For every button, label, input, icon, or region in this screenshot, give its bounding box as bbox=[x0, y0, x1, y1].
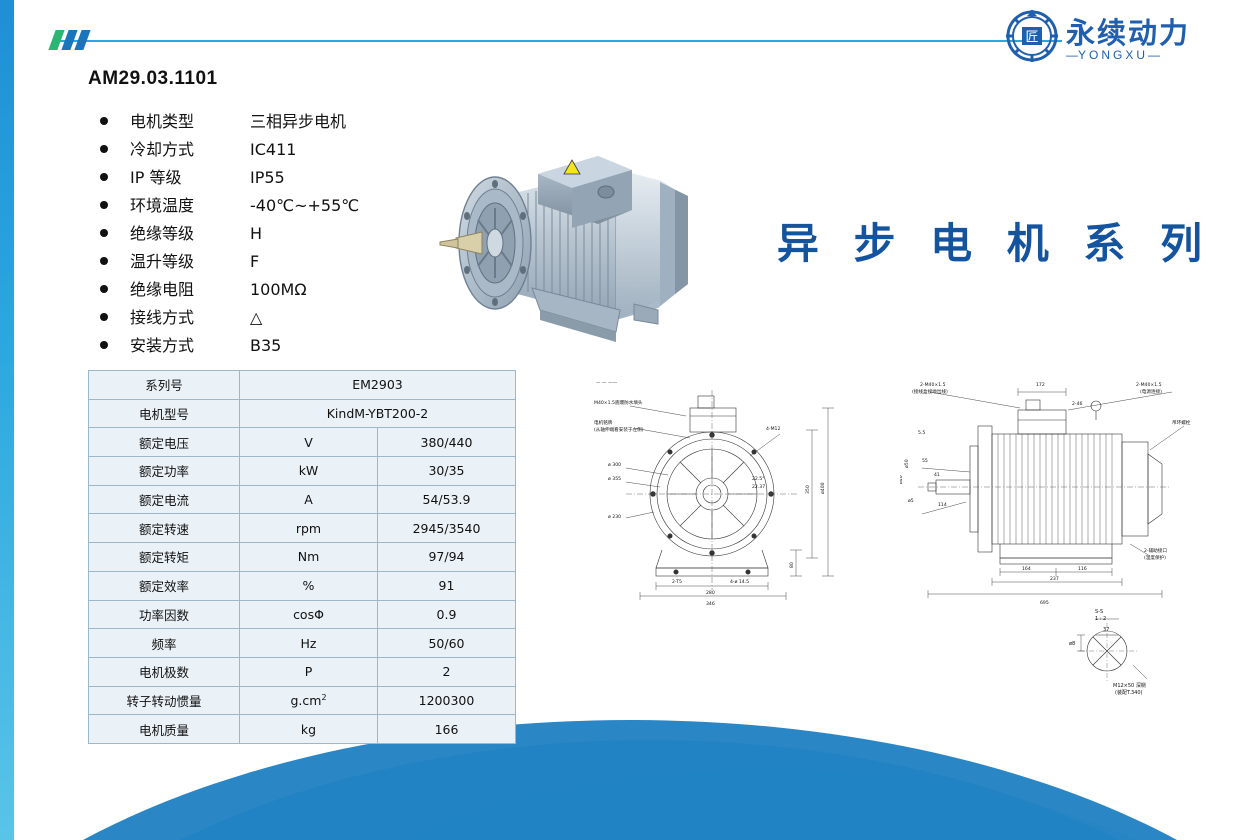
svg-text:ø5: ø5 bbox=[908, 498, 914, 504]
bullet-icon bbox=[100, 341, 108, 349]
svg-text:4-ø 14.5: 4-ø 14.5 bbox=[730, 579, 749, 585]
svg-text:695: 695 bbox=[1040, 600, 1049, 606]
spec-list: 电机类型 三相异步电机 冷却方式 IC411 IP 等级 IP55 环境温度 -… bbox=[100, 108, 440, 360]
bullet-icon bbox=[100, 201, 108, 209]
spec-value: B35 bbox=[250, 336, 281, 355]
svg-text:22.37: 22.37 bbox=[752, 484, 765, 490]
table-cell-value: 166 bbox=[378, 715, 516, 744]
table-row: 系列号 EM2903 bbox=[89, 371, 516, 400]
table-cell-value: 54/53.9 bbox=[378, 485, 516, 514]
svg-text:172: 172 bbox=[1036, 382, 1045, 388]
table-cell-name: 额定功率 bbox=[89, 457, 240, 486]
bullet-icon bbox=[100, 313, 108, 321]
svg-text:5.5: 5.5 bbox=[918, 430, 925, 436]
bullet-icon bbox=[100, 117, 108, 125]
table-cell-name: 电机极数 bbox=[89, 657, 240, 686]
svg-text:2-M40×1.5: 2-M40×1.5 bbox=[920, 382, 946, 388]
svg-text:ø50: ø50 bbox=[904, 459, 910, 468]
spec-label: 接线方式 bbox=[130, 304, 250, 328]
side-view-drawing: 2-M40×1.5 (接线盒接地出线) 2-M40×1.5 (电源连接) 172… bbox=[900, 372, 1200, 612]
spec-label: 绝缘电阻 bbox=[130, 276, 250, 300]
table-row: 额定转速 rpm 2945/3540 bbox=[89, 514, 516, 543]
spec-label: IP 等级 bbox=[130, 164, 250, 188]
table-row: 额定效率 % 91 bbox=[89, 571, 516, 600]
table-cell-name: 功率因数 bbox=[89, 600, 240, 629]
svg-text:55: 55 bbox=[922, 458, 928, 464]
list-item: 冷却方式 IC411 bbox=[100, 136, 440, 164]
table-cell-value: KindM-YBT200-2 bbox=[240, 399, 516, 428]
svg-text:ø 355: ø 355 bbox=[608, 476, 621, 482]
spec-value: H bbox=[250, 224, 262, 243]
table-cell-value: EM2903 bbox=[240, 371, 516, 400]
list-item: 绝缘电阻 100MΩ bbox=[100, 276, 440, 304]
svg-text:吊环螺栓: 吊环螺栓 bbox=[1172, 419, 1191, 426]
table-cell-name: 频率 bbox=[89, 629, 240, 658]
series-title: 异 步 电 机 系 列 bbox=[777, 210, 1212, 271]
svg-text:116: 116 bbox=[1078, 566, 1087, 572]
parameter-table: 系列号 EM2903 电机型号 KindM-YBT200-2 额定电压 V 38… bbox=[88, 370, 516, 744]
svg-text:电机铭牌: 电机铭牌 bbox=[594, 419, 613, 426]
svg-text:80: 80 bbox=[789, 562, 795, 568]
table-cell-name: 转子转动惯量 bbox=[89, 686, 240, 715]
table-cell-name: 电机质量 bbox=[89, 715, 240, 744]
front-view-drawing: — — —— M40×1.5底爆防水填头 电机铭牌 (从轴伸端看安装于左侧) 4… bbox=[590, 372, 870, 612]
svg-text:匠: 匠 bbox=[1025, 30, 1038, 45]
svg-text:37: 37 bbox=[1103, 627, 1109, 633]
gear-logo-icon: 匠 bbox=[1004, 8, 1060, 64]
table-row: 电机质量 kg 166 bbox=[89, 715, 516, 744]
table-cell-unit: P bbox=[240, 657, 378, 686]
left-accent-bar bbox=[0, 0, 14, 840]
table-cell-unit: cosΦ bbox=[240, 600, 378, 629]
svg-text:2-46: 2-46 bbox=[1072, 401, 1083, 407]
svg-text:ø400: ø400 bbox=[820, 482, 826, 494]
spec-label: 温升等级 bbox=[130, 248, 250, 272]
svg-text:41: 41 bbox=[934, 472, 940, 478]
list-item: 电机类型 三相异步电机 bbox=[100, 108, 440, 136]
spec-label: 电机类型 bbox=[130, 108, 250, 132]
spec-value: 三相异步电机 bbox=[250, 108, 346, 132]
table-cell-value: 91 bbox=[378, 571, 516, 600]
svg-text:S-S: S-S bbox=[1095, 609, 1103, 615]
table-cell-value: 30/35 bbox=[378, 457, 516, 486]
table-cell-name: 额定转速 bbox=[89, 514, 240, 543]
svg-text:22.5°: 22.5° bbox=[752, 476, 765, 482]
table-cell-unit: Hz bbox=[240, 629, 378, 658]
table-row: 频率 Hz 50/60 bbox=[89, 629, 516, 658]
section-s-s-drawing: S-S 1 : 2 37 ø8 M12×50 深铡 (装配T.340) bbox=[1055, 605, 1165, 705]
spec-label: 环境温度 bbox=[130, 192, 250, 216]
spec-value: IC411 bbox=[250, 140, 296, 159]
table-cell-value: 97/94 bbox=[378, 543, 516, 572]
svg-text:350: 350 bbox=[805, 485, 811, 494]
table-row: 额定电流 A 54/53.9 bbox=[89, 485, 516, 514]
list-item: 接线方式 △ bbox=[100, 304, 440, 332]
svg-text:ø8: ø8 bbox=[1069, 641, 1075, 647]
table-row: 额定电压 V 380/440 bbox=[89, 428, 516, 457]
table-row: 额定转矩 Nm 97/94 bbox=[89, 543, 516, 572]
table-cell-unit: kW bbox=[240, 457, 378, 486]
svg-text:ø 300: ø 300 bbox=[608, 462, 621, 468]
svg-text:2-T5: 2-T5 bbox=[672, 579, 682, 585]
table-cell-value: 0.9 bbox=[378, 600, 516, 629]
svg-text:M40×1.5底爆防水填头: M40×1.5底爆防水填头 bbox=[594, 399, 643, 406]
bullet-icon bbox=[100, 257, 108, 265]
svg-text:2-M40×1.5: 2-M40×1.5 bbox=[1136, 382, 1162, 388]
table-row: 额定功率 kW 30/35 bbox=[89, 457, 516, 486]
spec-value: F bbox=[250, 252, 259, 271]
table-cell-value: 380/440 bbox=[378, 428, 516, 457]
table-cell-unit: rpm bbox=[240, 514, 378, 543]
list-item: 温升等级 F bbox=[100, 248, 440, 276]
spec-value: △ bbox=[250, 308, 262, 327]
table-row: 转子转动惯量 g.cm2 1200300 bbox=[89, 686, 516, 715]
svg-text:ø 230: ø 230 bbox=[608, 514, 621, 520]
table-cell-unit: g.cm2 bbox=[240, 686, 378, 715]
svg-text:114: 114 bbox=[938, 502, 947, 508]
svg-text:(电源连接): (电源连接) bbox=[1140, 388, 1162, 395]
svg-text:— — ——: — — —— bbox=[596, 381, 618, 386]
logo-english-name: —YONGXU— bbox=[1066, 48, 1160, 62]
svg-text:4-M12: 4-M12 bbox=[766, 426, 780, 432]
table-cell-name: 额定转矩 bbox=[89, 543, 240, 572]
table-cell-value: 1200300 bbox=[378, 686, 516, 715]
table-row: 功率因数 cosΦ 0.9 bbox=[89, 600, 516, 629]
svg-text:346: 346 bbox=[706, 601, 715, 607]
table-cell-unit: kg bbox=[240, 715, 378, 744]
list-item: 绝缘等级 H bbox=[100, 220, 440, 248]
company-logo: 匠 永续动力 —YONGXU— bbox=[1004, 6, 1234, 72]
svg-text:(装配T.340): (装配T.340) bbox=[1115, 689, 1143, 696]
table-cell-name: 电机型号 bbox=[89, 399, 240, 428]
svg-text:237: 237 bbox=[1050, 576, 1059, 582]
table-cell-name: 额定效率 bbox=[89, 571, 240, 600]
svg-text:2-辅助接口: 2-辅助接口 bbox=[1144, 547, 1167, 554]
table-cell-unit: Nm bbox=[240, 543, 378, 572]
svg-text:280: 280 bbox=[706, 590, 715, 596]
svg-text:(温度保护): (温度保护) bbox=[1144, 554, 1166, 561]
spec-label: 安装方式 bbox=[130, 332, 250, 356]
spec-value: 100MΩ bbox=[250, 280, 307, 299]
table-cell-value: 2945/3540 bbox=[378, 514, 516, 543]
header-tick-marks bbox=[52, 30, 87, 50]
table-cell-name: 系列号 bbox=[89, 371, 240, 400]
table-cell-name: 额定电压 bbox=[89, 428, 240, 457]
table-cell-unit: V bbox=[240, 428, 378, 457]
table-row: 电机型号 KindM-YBT200-2 bbox=[89, 399, 516, 428]
list-item: IP 等级 IP55 bbox=[100, 164, 440, 192]
table-cell-value: 50/60 bbox=[378, 629, 516, 658]
spec-value: -40℃~+55℃ bbox=[250, 196, 359, 215]
svg-text:164: 164 bbox=[1022, 566, 1031, 572]
spec-value: IP55 bbox=[250, 168, 285, 187]
page-title: AM29.03.1101 bbox=[88, 68, 218, 90]
svg-text:(从轴伸端看安装于左侧): (从轴伸端看安装于左侧) bbox=[594, 426, 644, 433]
bullet-icon bbox=[100, 229, 108, 237]
svg-text:ø40: ø40 bbox=[900, 475, 904, 484]
table-cell-unit: % bbox=[240, 571, 378, 600]
svg-text:1 : 2: 1 : 2 bbox=[1095, 616, 1106, 622]
bullet-icon bbox=[100, 145, 108, 153]
table-cell-unit: A bbox=[240, 485, 378, 514]
table-cell-name: 额定电流 bbox=[89, 485, 240, 514]
list-item: 安装方式 B35 bbox=[100, 332, 440, 360]
spec-label: 冷却方式 bbox=[130, 136, 250, 160]
bullet-icon bbox=[100, 285, 108, 293]
svg-text:M12×50 深铡: M12×50 深铡 bbox=[1113, 682, 1146, 689]
spec-label: 绝缘等级 bbox=[130, 220, 250, 244]
bullet-icon bbox=[100, 173, 108, 181]
svg-text:(接线盒接地出线): (接线盒接地出线) bbox=[912, 388, 948, 395]
logo-chinese-name: 永续动力 bbox=[1066, 10, 1190, 52]
table-cell-value: 2 bbox=[378, 657, 516, 686]
motor-3d-illustration bbox=[420, 98, 720, 363]
list-item: 环境温度 -40℃~+55℃ bbox=[100, 192, 440, 220]
table-row: 电机极数 P 2 bbox=[89, 657, 516, 686]
header-rule bbox=[52, 40, 1062, 42]
